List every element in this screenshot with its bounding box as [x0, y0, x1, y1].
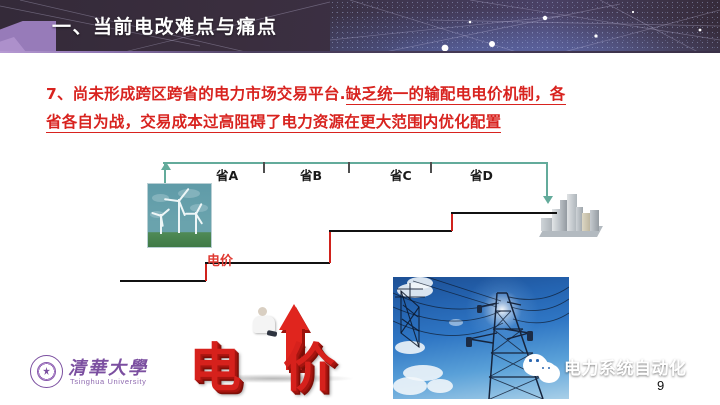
city-buildings-icon	[540, 192, 602, 237]
wind-farm-icon	[147, 183, 212, 248]
artwork-figure-leg	[267, 330, 278, 337]
tsinghua-name-en: Tsinghua University	[70, 377, 146, 386]
body-line1-plain: 7、尚未形成跨区跨省的电力市场交易平台.	[46, 85, 346, 103]
tsinghua-logo: 清華大學 Tsinghua University	[30, 352, 160, 394]
header-bottom-rule	[0, 51, 720, 53]
axis-tick	[348, 162, 350, 173]
page-title: 一、当前电改难点与痛点	[52, 12, 278, 39]
province-label-d: 省D	[470, 165, 493, 184]
body-line2-underlined: 省各自为战，交易成本过高阻碍了电力资源在更大范围内优化配置	[46, 113, 501, 133]
price-axis-label: 电价	[207, 250, 233, 269]
step-riser-cd	[451, 212, 453, 231]
step-riser-bc	[329, 230, 331, 263]
step-segment-d	[451, 212, 557, 214]
price-staircase-diagram: 省A 省B 省C 省D	[0, 150, 720, 300]
axis-tick	[263, 162, 265, 173]
step-segment-c	[329, 230, 452, 232]
slide-header: 一、当前电改难点与痛点	[0, 0, 720, 53]
body-line1-underlined: 缺乏统一的输配电电价机制，各	[346, 85, 566, 105]
transmission-axis-line	[163, 162, 548, 164]
body-paragraph: 7、尚未形成跨区跨省的电力市场交易平台.缺乏统一的输配电电价机制，各 省各自为战…	[46, 80, 686, 136]
step-segment-a	[120, 280, 206, 282]
province-label-a: 省A	[216, 165, 238, 184]
brand-watermark: 电力系统自动化	[524, 352, 699, 386]
province-label-b: 省B	[300, 165, 322, 184]
artwork-char-dian: 电	[189, 326, 241, 401]
brand-name: 电力系统自动化	[564, 354, 687, 379]
slide-canvas: 一、当前电改难点与痛点 7、尚未形成跨区跨省的电力市场交易平台.缺乏统一的输配电…	[0, 0, 720, 405]
province-label-c: 省C	[390, 165, 412, 184]
tsinghua-seal-icon	[30, 355, 63, 388]
artwork-figure-head	[258, 307, 267, 316]
artwork-char-jia: 价	[283, 326, 335, 401]
brand-wechat-icon	[524, 354, 558, 380]
price-3d-artwork: 电 价	[187, 300, 359, 388]
page-number: 9	[657, 378, 664, 393]
axis-tick	[430, 162, 432, 173]
